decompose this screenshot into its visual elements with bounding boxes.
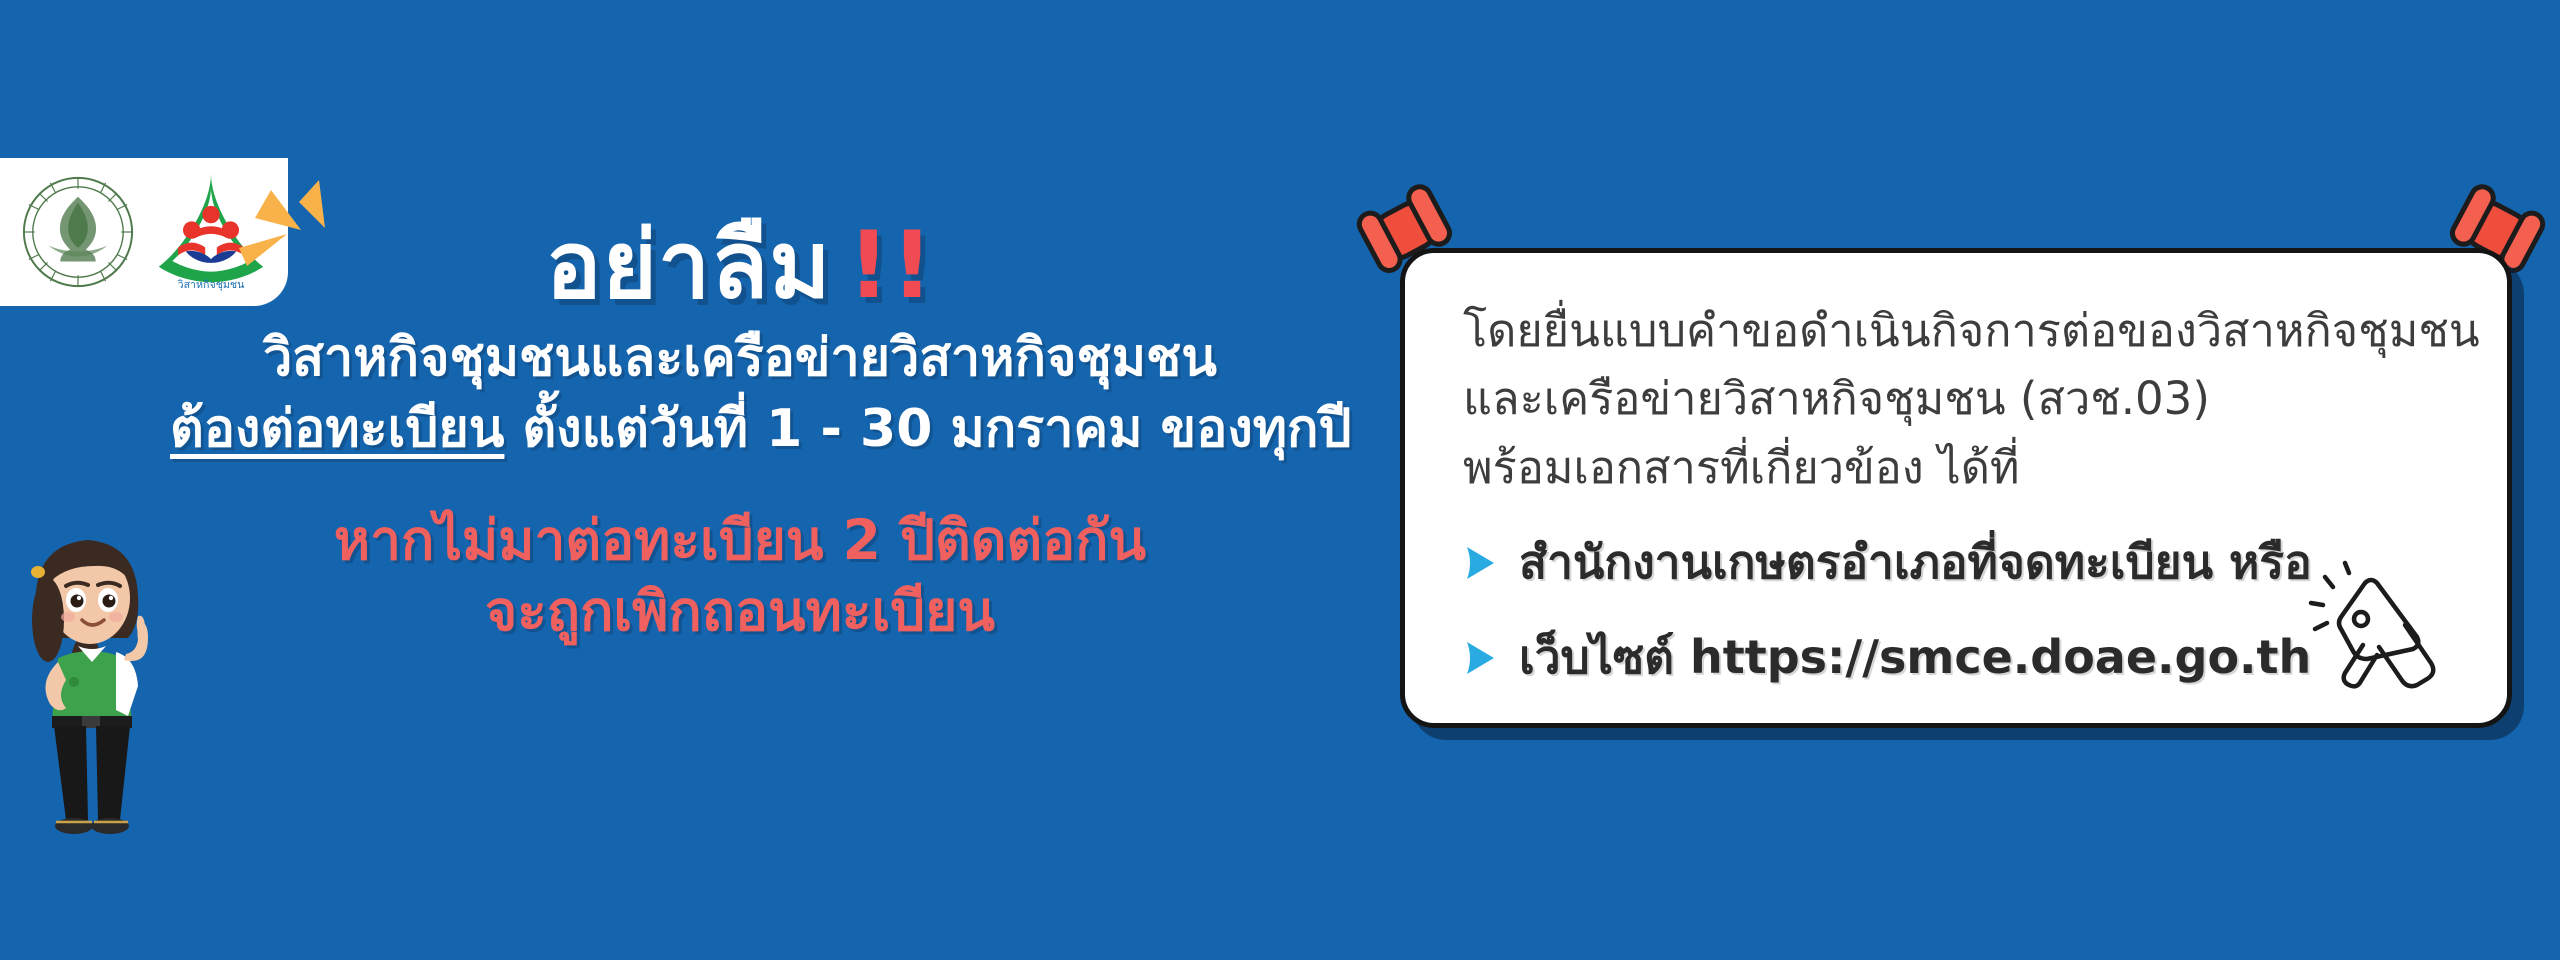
subtitle-line-1: วิสาหกิจชุมชนและเครือข่ายวิสาหกิจชุมชน [170,328,1310,389]
left-message-column: อย่าลืม!! วิสาหกิจชุมชนและเครือข่ายวิสาห… [170,190,1310,648]
garuda-seal-icon [19,173,137,291]
renew-period-text: ตั้งแต่วันที่ 1 - 30 มกราคม ของทุกปี [504,399,1351,459]
agriculture-officer-mascot [8,520,188,850]
channel-office-label: สำนักงานเกษตรอำเภอที่จดทะเบียน หรือ [1519,526,2312,599]
channel-website-label[interactable]: เว็บไซต์ https://smce.doae.go.th [1519,621,2311,694]
must-renew-emphasis: ต้องต่อทะเบียน [170,399,504,459]
card-line-2: และเครือข่ายวิสาหกิจชุมชน (สวช.03) [1463,365,2507,433]
triangle-bullet-icon [1463,639,1497,677]
warning-line-1: หากไม่มาต่อทะเบียน 2 ปีติดต่อกัน [170,505,1310,577]
warning-block: หากไม่มาต่อทะเบียน 2 ปีติดต่อกัน จะถูกเพ… [170,505,1310,648]
card-line-1: โดยยื่นแบบคำขอดำเนินกิจการต่อของวิสาหกิจ… [1463,297,2507,365]
starburst-icon [225,174,355,274]
subtitle-line-2: ต้องต่อทะเบียน ตั้งแต่วันที่ 1 - 30 มกรา… [170,399,1310,460]
registration-renewal-banner: วิสาหกิจชุมชน [0,0,2560,960]
page-title: อย่าลืม!! [546,219,935,312]
headline-text: อย่าลืม [546,211,832,319]
headline-exclamation: !! [848,211,935,319]
headline-row: อย่าลืม!! [170,190,1310,312]
megaphone-icon [2305,559,2455,697]
triangle-bullet-icon [1463,544,1497,582]
instructions-card: โดยยื่นแบบคำขอดำเนินกิจการต่อของวิสาหกิจ… [1400,248,2512,728]
warning-line-2: จะถูกเพิกถอนทะเบียน [170,576,1310,648]
card-line-3: พร้อมเอกสารที่เกี่ยวข้อง ได้ที่ [1463,434,2507,502]
